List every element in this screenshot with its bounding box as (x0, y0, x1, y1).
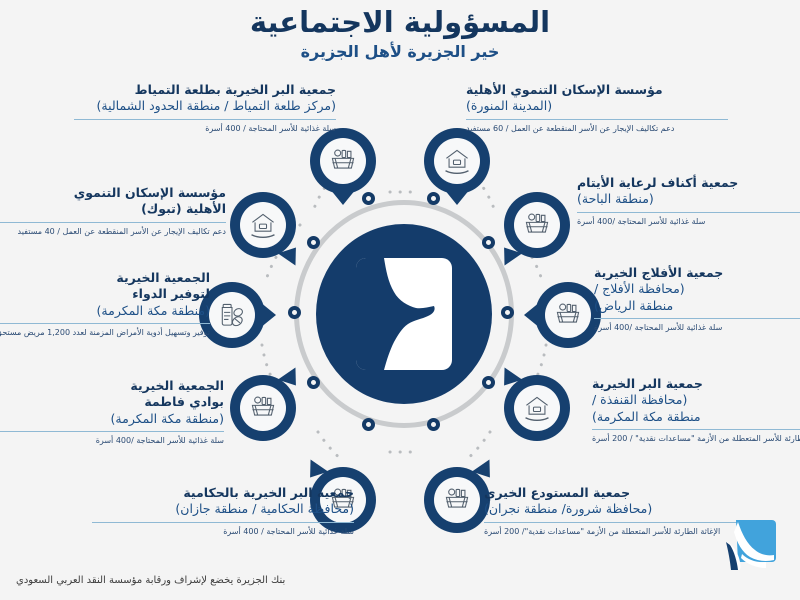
pin-disc (504, 375, 570, 441)
medicine-bottle-icon (209, 292, 255, 338)
org-name: الجمعية الخيرية (0, 378, 224, 394)
house-on-hand-icon (514, 385, 560, 431)
regulatory-note: بنك الجزيرة يخضع لإشراف ورقابة مؤسسة الن… (16, 575, 285, 586)
org-name: جمعية البر الخيرية بالحكامية (92, 485, 354, 501)
label-housing-tabuk: مؤسسة الإسكان التنموي الأهلية (تبوك) دعم… (0, 185, 226, 237)
divider (484, 522, 746, 523)
food-basket-icon (514, 202, 560, 248)
org-description: سلة غذائية للأسر المحتاجة / 400 أسرة (74, 123, 336, 135)
org-location: (منطقة مكة المكرمة) (0, 411, 224, 427)
org-description: دعم تكاليف الإيجار عن الأسر المنقطعة عن … (0, 226, 226, 238)
house-on-hand-icon (240, 202, 286, 248)
label-wadi-fatimah: الجمعية الخيرية بوادي فاطمة (منطقة مكة ا… (0, 378, 224, 446)
food-basket-icon (240, 385, 286, 431)
pin-disc (230, 375, 296, 441)
ring-node (482, 376, 495, 389)
org-location: (منطقة الباحة) (577, 191, 800, 207)
divider (0, 323, 210, 324)
ring-node (307, 236, 320, 249)
org-name: جمعية الأفلاج الخيرية (594, 265, 800, 281)
divider (0, 431, 224, 432)
pin-disc (424, 467, 490, 533)
org-location: (محافظة القنفذة / (592, 392, 800, 408)
org-location: (محافظة الحكامية / منطقة جازان) (92, 501, 354, 517)
org-name: مؤسسة الإسكان التنموي (0, 185, 226, 201)
label-hakamiyah-jazan: جمعية البر الخيرية بالحكامية (محافظة الح… (92, 485, 354, 537)
org-location: (منطقة مكة المكرمة) (0, 303, 210, 319)
page-subtitle: خير الجزيرة لأهل الجزيرة (0, 42, 800, 61)
pin-talat-tamiat[interactable] (310, 128, 376, 194)
org-name-line2: الأهلية (تبوك) (0, 201, 226, 217)
divider (92, 522, 354, 523)
ring-node (501, 306, 514, 319)
pin-disc (424, 128, 490, 194)
ring-node (288, 306, 301, 319)
divider (74, 119, 336, 120)
center-graphic (288, 198, 520, 430)
org-description: توفير وتسهيل أدوية الأمراض المزمنة لعدد … (0, 327, 210, 339)
saudi-arabia-map-icon (356, 258, 452, 370)
pin-disc (230, 192, 296, 258)
pin-aknaf-baha[interactable] (504, 192, 570, 258)
center-circle (316, 224, 492, 404)
label-aknaf-baha: جمعية أكناف لرعاية الأيتام (منطقة الباحة… (577, 175, 800, 227)
org-description: الإغاثة الطارئة للأسر المتعطلة من الأزمة… (484, 526, 746, 538)
org-description: دعم تكاليف الإيجار عن الأسر المنقطعة عن … (466, 123, 728, 135)
label-medicine-makkah: الجمعية الخيرية لتوفير الدواء (منطقة مكة… (0, 270, 210, 338)
org-name: جمعية أكناف لرعاية الأيتام (577, 175, 800, 191)
label-talat-tamiat: جمعية البر الخيرية بطلعة التمياط (مركز ط… (74, 82, 336, 134)
org-description: الإغاثة الطارئة للأسر المتعطلة من الأزمة… (592, 433, 800, 445)
bank-aljazira-logo (716, 510, 778, 572)
org-name-line2: لتوفير الدواء (0, 286, 210, 302)
header: المسؤولية الاجتماعية خير الجزيرة لأهل ال… (0, 6, 800, 61)
pin-housing-madinah[interactable] (424, 128, 490, 194)
page-title: المسؤولية الاجتماعية (0, 6, 800, 39)
org-name-line2: بوادي فاطمة (0, 394, 224, 410)
food-basket-icon (434, 477, 480, 523)
org-description: سلة غذائية للأسر المحتاجة /400 أسرة (0, 435, 224, 447)
org-description: سلة غذائية للأسر المحتاجة / 400 أسرة (92, 526, 354, 538)
divider (577, 212, 800, 213)
org-name: جمعية المستودع الخيري (484, 485, 746, 501)
org-name: الجمعية الخيرية (0, 270, 210, 286)
org-name: جمعية البر الخيرية بطلعة التمياط (74, 82, 336, 98)
ring-node (307, 376, 320, 389)
divider (594, 318, 800, 319)
pin-disc (504, 192, 570, 258)
divider (466, 119, 728, 120)
pin-housing-tabuk[interactable] (230, 192, 296, 258)
pin-qunfudhah[interactable] (504, 375, 570, 441)
pin-mustawda-najran[interactable] (424, 467, 490, 533)
label-mustawda-najran: جمعية المستودع الخيري (محافظة شرورة/ منط… (484, 485, 746, 537)
org-location: (مركز طلعة التمياط / منطقة الحدود الشمال… (74, 98, 336, 114)
pin-disc (535, 282, 601, 348)
ring-node (362, 418, 375, 431)
org-name: مؤسسة الإسكان التنموي الأهلية (466, 82, 728, 98)
org-location-line2: منطقة الرياض) (594, 298, 800, 314)
org-location: (محافظة الأفلاج / (594, 281, 800, 297)
divider (592, 429, 800, 430)
label-qunfudhah: جمعية البر الخيرية (محافظة القنفذة / منط… (592, 376, 800, 444)
pin-wadi-fatimah[interactable] (230, 375, 296, 441)
org-description: سلة غذائية للأسر المحتاجة /400 أسرة (577, 216, 800, 228)
food-basket-icon (545, 292, 591, 338)
house-on-hand-icon (434, 138, 480, 184)
pin-aflaj-riyadh[interactable] (535, 282, 601, 348)
infographic-canvas: المسؤولية الاجتماعية خير الجزيرة لأهل ال… (0, 0, 800, 600)
food-basket-icon (320, 138, 366, 184)
ring-node (482, 236, 495, 249)
org-description: سلة غذائية للأسر المحتاجة /400 أسرة (594, 322, 800, 334)
ring-node (427, 418, 440, 431)
pin-disc (310, 128, 376, 194)
label-aflaj-riyadh: جمعية الأفلاج الخيرية (محافظة الأفلاج / … (594, 265, 800, 333)
org-location-line2: منطقة مكة المكرمة) (592, 409, 800, 425)
org-name: جمعية البر الخيرية (592, 376, 800, 392)
org-location: (المدينة المنورة) (466, 98, 728, 114)
divider (0, 222, 226, 223)
label-housing-madinah: مؤسسة الإسكان التنموي الأهلية (المدينة ا… (466, 82, 728, 134)
org-location: (محافظة شرورة/ منطقة نجران) (484, 501, 746, 517)
